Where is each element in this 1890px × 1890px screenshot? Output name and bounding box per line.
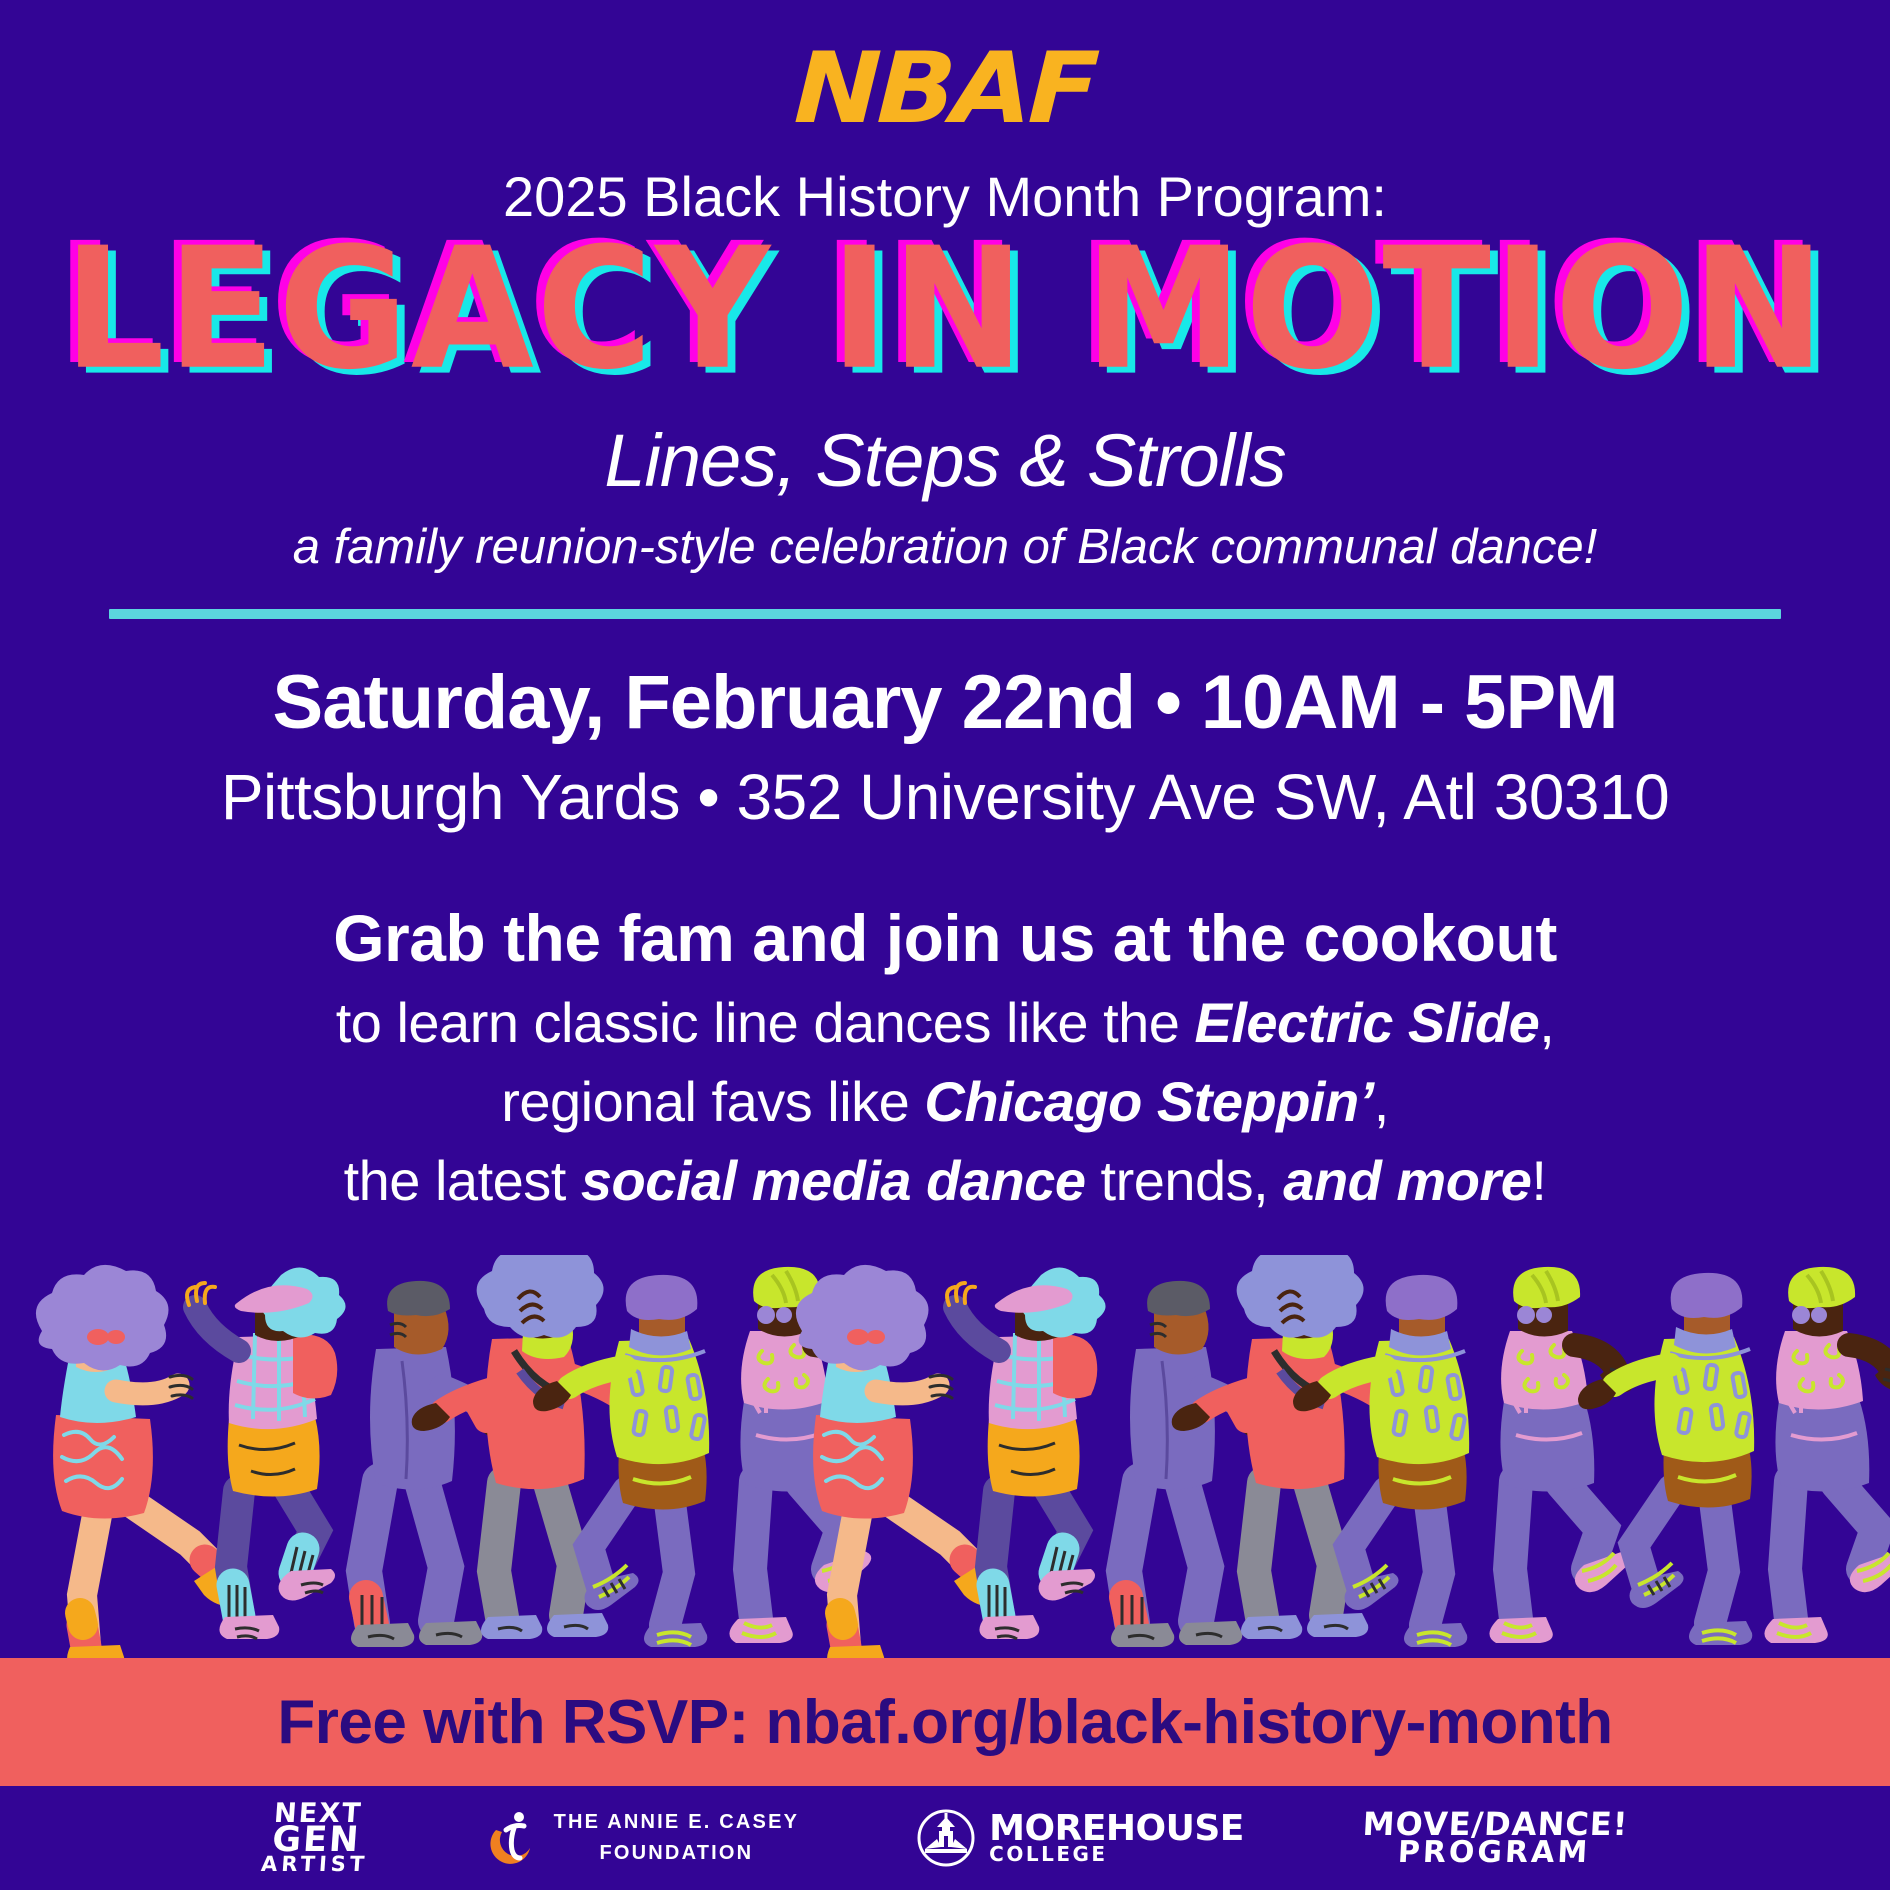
body-line-3-post: ! — [1531, 1149, 1546, 1212]
body-line-2-post: , — [1374, 1070, 1389, 1133]
next-gen-artist-logo: NEXT GEN ARTIST — [260, 1802, 372, 1873]
body-line-1: to learn classic line dances like the El… — [0, 990, 1890, 1055]
rsvp-banner[interactable]: Free with RSVP: nbaf.org/black-history-m… — [0, 1658, 1890, 1786]
nbaf-logo: NBAF — [793, 40, 1097, 138]
move-dance-line1: MOVE/DANCE! — [1362, 1809, 1629, 1839]
morehouse-wordmark: MOREHOUSE COLLEGE — [989, 1813, 1244, 1863]
sponsor-morehouse-college: MOREHOUSE COLLEGE — [917, 1809, 1244, 1867]
rsvp-text[interactable]: Free with RSVP: nbaf.org/black-history-m… — [277, 1687, 1612, 1758]
sponsor-annie-e-casey-foundation: THE ANNIE E. CASEY FOUNDATION — [488, 1807, 800, 1869]
body-line-1-pre: to learn classic line dances like the — [336, 991, 1195, 1054]
dancers-svg — [0, 1255, 1890, 1660]
dancer-12 — [1489, 1267, 1634, 1643]
nbaf-logo-wrap: NBAF — [0, 0, 1890, 138]
body-line-3-pre: the latest — [344, 1149, 581, 1212]
dancer-13 — [1578, 1273, 1754, 1645]
next-gen-artist-line2: GEN — [261, 1826, 370, 1856]
body-headline: Grab the fam and join us at the cookout — [0, 900, 1890, 976]
section-divider — [109, 609, 1781, 619]
body-line-3-emphasis: social media dance — [581, 1149, 1086, 1212]
next-gen-artist-line3: ARTIST — [260, 1856, 368, 1874]
body-line-2: regional favs like Chicago Steppin’, — [0, 1069, 1890, 1134]
event-venue: Pittsburgh Yards • 352 University Ave SW… — [0, 760, 1890, 834]
dancer-14 — [1764, 1267, 1890, 1643]
sponsor-next-gen-artist: NEXT GEN ARTIST — [263, 1802, 370, 1873]
morehouse-seal-icon — [917, 1809, 975, 1867]
morehouse-line1: MOREHOUSE — [989, 1813, 1244, 1845]
body-line-3: the latest social media dance trends, an… — [0, 1148, 1890, 1213]
event-tagline: a family reunion-style celebration of Bl… — [0, 519, 1890, 575]
body-line-3-emphasis-2: and more — [1283, 1149, 1531, 1212]
body-line-1-emphasis: Electric Slide — [1195, 991, 1540, 1054]
sponsor-move-dance-program: MOVE/DANCE! PROGRAM — [1362, 1809, 1628, 1868]
event-date: Saturday, February 22nd • 10AM - 5PM — [0, 659, 1890, 746]
body-line-2-pre: regional favs like — [501, 1070, 924, 1133]
body-line-1-post: , — [1539, 991, 1554, 1054]
body-line-2-emphasis: Chicago Steppin’ — [924, 1070, 1373, 1133]
dancer-illustration-band — [0, 1255, 1890, 1660]
move-dance-logo: MOVE/DANCE! PROGRAM — [1360, 1809, 1629, 1868]
sponsor-row: NEXT GEN ARTIST THE ANNIE E. CASEY FOUND… — [0, 1786, 1890, 1890]
move-dance-line2: PROGRAM — [1360, 1839, 1627, 1868]
title-wrap: LEGACY IN MOTION — [0, 235, 1890, 384]
body-line-3-mid: trends, — [1085, 1149, 1283, 1212]
event-title: LEGACY IN MOTION — [63, 222, 1827, 398]
casey-line1: THE ANNIE E. CASEY — [554, 1807, 800, 1838]
casey-foundation-icon — [488, 1808, 540, 1868]
event-subtitle: Lines, Steps & Strolls — [0, 418, 1890, 503]
casey-line2: FOUNDATION — [554, 1838, 800, 1869]
casey-foundation-wordmark: THE ANNIE E. CASEY FOUNDATION — [554, 1807, 800, 1869]
flyer-canvas: NBAF 2025 Black History Month Program: L… — [0, 0, 1890, 1890]
